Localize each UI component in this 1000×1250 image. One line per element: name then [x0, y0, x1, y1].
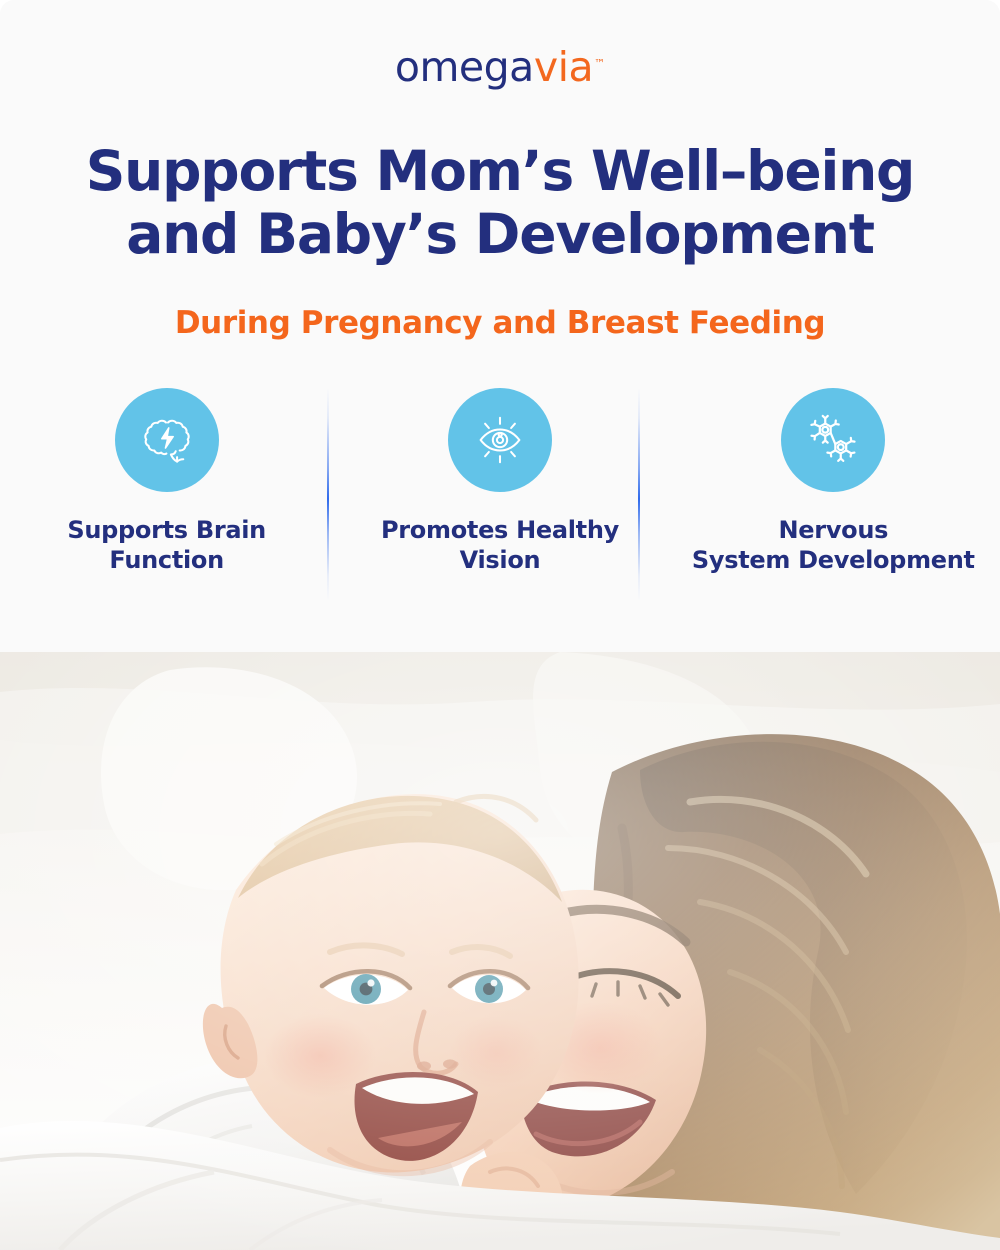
- page-subtitle: During Pregnancy and Breast Feeding: [0, 305, 1000, 342]
- brand-name-primary: omega: [395, 43, 534, 91]
- product-benefits-page: omegavia™ Supports Mom’s Well–being and …: [0, 0, 1000, 1250]
- neuron-network-icon: [781, 388, 885, 492]
- lifestyle-photo: [0, 652, 1000, 1250]
- benefit-item-brain[interactable]: Supports Brain Function: [0, 388, 333, 576]
- brand-name-accent: via: [534, 43, 593, 91]
- page-title-line-2: and Baby’s Development: [0, 203, 1000, 266]
- benefits-info-card: omegavia™ Supports Mom’s Well–being and …: [0, 0, 1000, 652]
- trademark-icon: ™: [594, 57, 605, 70]
- eye-vision-icon: [448, 388, 552, 492]
- brain-lightning-icon: [115, 388, 219, 492]
- benefit-label-vision: Promotes Healthy Vision: [381, 516, 619, 576]
- benefit-label-brain: Supports Brain Function: [67, 516, 266, 576]
- benefit-item-nervous-system[interactable]: Nervous System Development: [667, 388, 1000, 576]
- page-title: Supports Mom’s Well–being and Baby’s Dev…: [0, 140, 1000, 265]
- brand-logo[interactable]: omegavia™: [0, 47, 1000, 88]
- benefit-label-nervous-system: Nervous System Development: [692, 516, 975, 576]
- benefits-row: Supports Brain Function: [0, 388, 1000, 603]
- page-title-line-1: Supports Mom’s Well–being: [0, 140, 1000, 203]
- benefit-item-vision[interactable]: Promotes Healthy Vision: [333, 388, 666, 576]
